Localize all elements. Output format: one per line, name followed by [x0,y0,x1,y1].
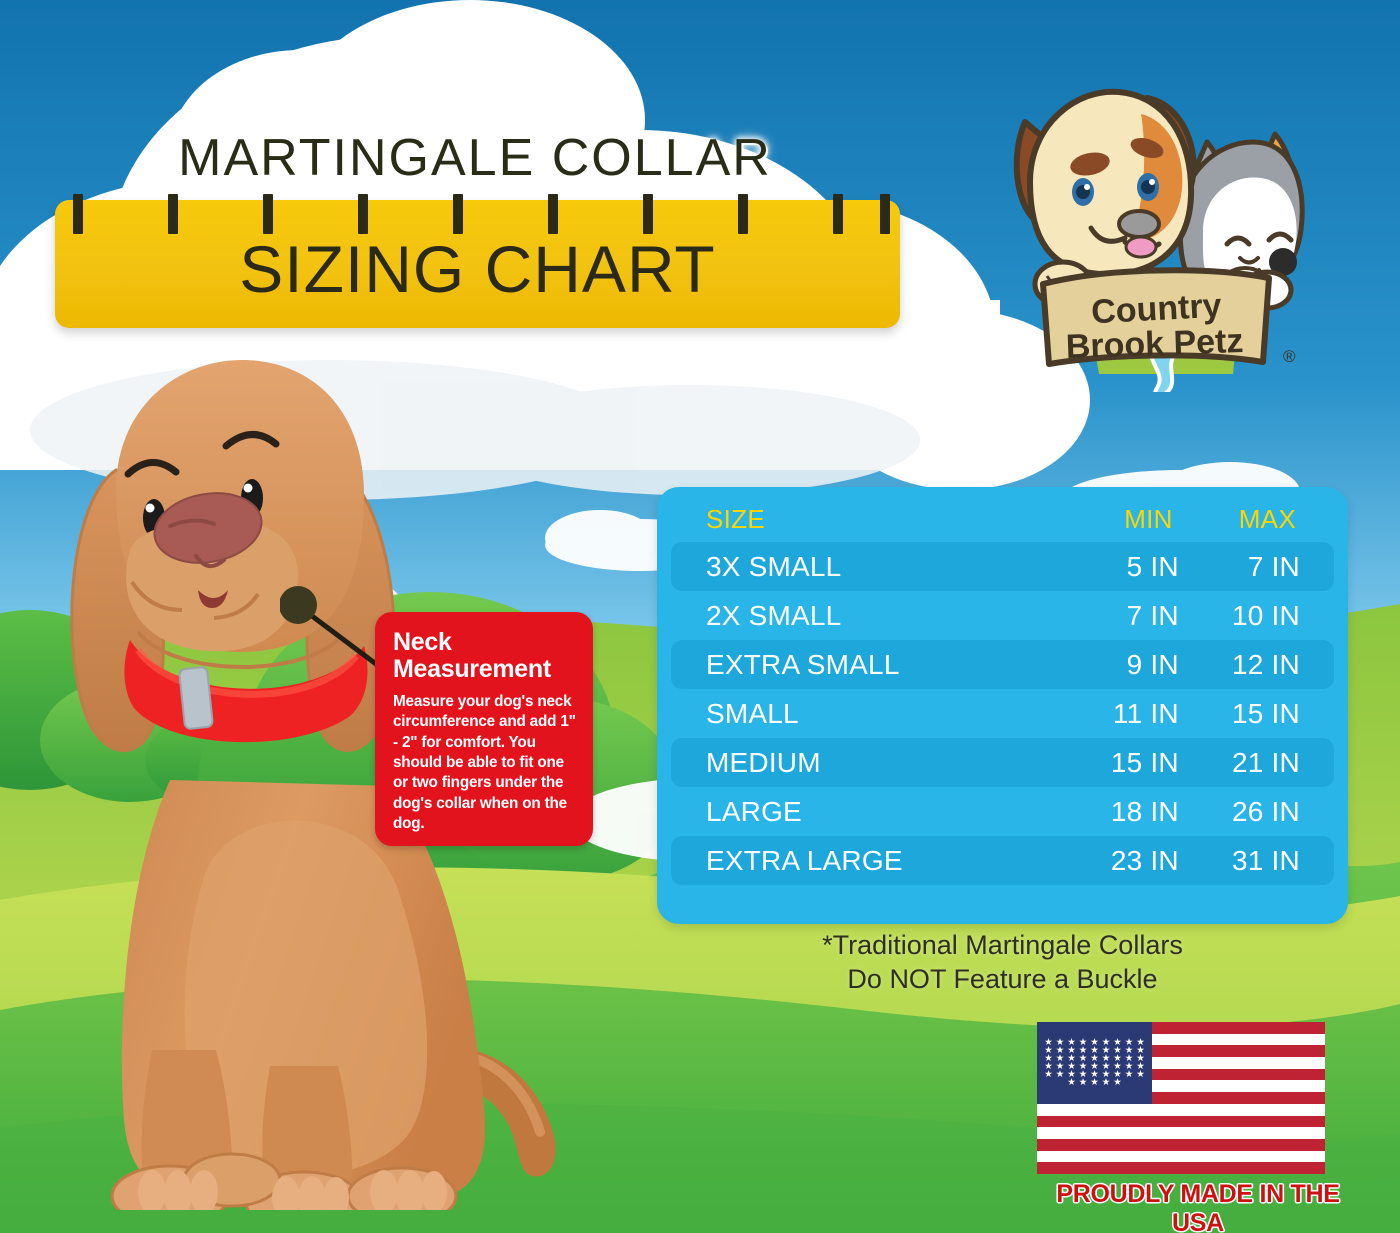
cell-max: 15 IN [1195,698,1334,730]
cell-min: 23 IN [1056,845,1195,877]
made-in-usa-block: ★★★★★★★★★ ★★★★★★★★★ ★★★★★★★★★ ★★★★★★★★★ … [1037,1022,1367,1233]
logo-brand-line2: Brook Petz [1065,322,1244,366]
cell-max: 21 IN [1195,747,1334,779]
collar-buckle [179,667,213,730]
page-subtitle: SIZING CHART [55,236,900,302]
ruler-tick [738,194,748,234]
footnote-line-1: *Traditional Martingale Collars [657,928,1348,962]
cell-min: 18 IN [1056,796,1195,828]
cell-min: 11 IN [1056,698,1195,730]
ruler-tick [263,194,273,234]
cell-max: 10 IN [1195,600,1334,632]
cell-size: MEDIUM [671,747,1056,779]
cell-max: 31 IN [1195,845,1334,877]
callout-body: Measure your dog's neck circumference an… [393,692,577,834]
cell-size: EXTRA SMALL [671,649,1056,681]
table-row: MEDIUM 15 IN 21 IN [671,738,1334,787]
ruler-tick [880,194,890,234]
ruler-tick [358,194,368,234]
cell-size: LARGE [671,796,1056,828]
ruler-tick [643,194,653,234]
cell-size: 2X SMALL [671,600,1056,632]
ruler-banner: SIZING CHART [55,200,900,328]
cell-min: 7 IN [1056,600,1195,632]
cell-size: 3X SMALL [671,551,1056,583]
cell-min: 5 IN [1056,551,1195,583]
table-row: EXTRA SMALL 9 IN 12 IN [671,640,1334,689]
column-header-min: MIN [1056,504,1195,535]
table-row: EXTRA LARGE 23 IN 31 IN [671,836,1334,885]
flag-canton: ★★★★★★★★★ ★★★★★★★★★ ★★★★★★★★★ ★★★★★★★★★ … [1037,1022,1152,1104]
cell-size: EXTRA LARGE [671,845,1056,877]
table-row: LARGE 18 IN 26 IN [671,787,1334,836]
ruler-tick [168,194,178,234]
callout-title: Neck Measurement [393,629,577,683]
cell-max: 7 IN [1195,551,1334,583]
ruler-tick [73,194,83,234]
logo-registered-mark: ® [1283,347,1296,366]
cell-max: 12 IN [1195,649,1334,681]
table-row: 3X SMALL 5 IN 7 IN [671,542,1334,591]
footnote: *Traditional Martingale Collars Do NOT F… [657,928,1348,997]
footnote-line-2: Do NOT Feature a Buckle [657,962,1348,996]
brand-logo: Country Brook Petz ® [995,62,1315,392]
ruler-tick [453,194,463,234]
table-header-row: SIZE MIN MAX [671,497,1334,541]
made-in-usa-caption: PROUDLY MADE IN THE USA [1037,1180,1359,1233]
ruler-tick [833,194,843,234]
cell-max: 26 IN [1195,796,1334,828]
infographic-canvas: MARTINGALE COLLAR SIZING CHART [0,0,1400,1233]
ruler-tick [548,194,558,234]
neck-measurement-callout: Neck Measurement Measure your dog's neck… [375,612,593,846]
column-header-max: MAX [1195,504,1334,535]
pointer-dot [280,586,317,624]
usa-flag-icon: ★★★★★★★★★ ★★★★★★★★★ ★★★★★★★★★ ★★★★★★★★★ … [1037,1022,1325,1174]
column-header-size: SIZE [671,504,1056,535]
page-title: MARTINGALE COLLAR [0,128,950,188]
cell-min: 9 IN [1056,649,1195,681]
cell-min: 15 IN [1056,747,1195,779]
cell-size: SMALL [671,698,1056,730]
table-row: 2X SMALL 7 IN 10 IN [671,591,1334,640]
table-row: SMALL 11 IN 15 IN [671,689,1334,738]
sizing-table: SIZE MIN MAX 3X SMALL 5 IN 7 IN 2X SMALL… [657,487,1348,924]
